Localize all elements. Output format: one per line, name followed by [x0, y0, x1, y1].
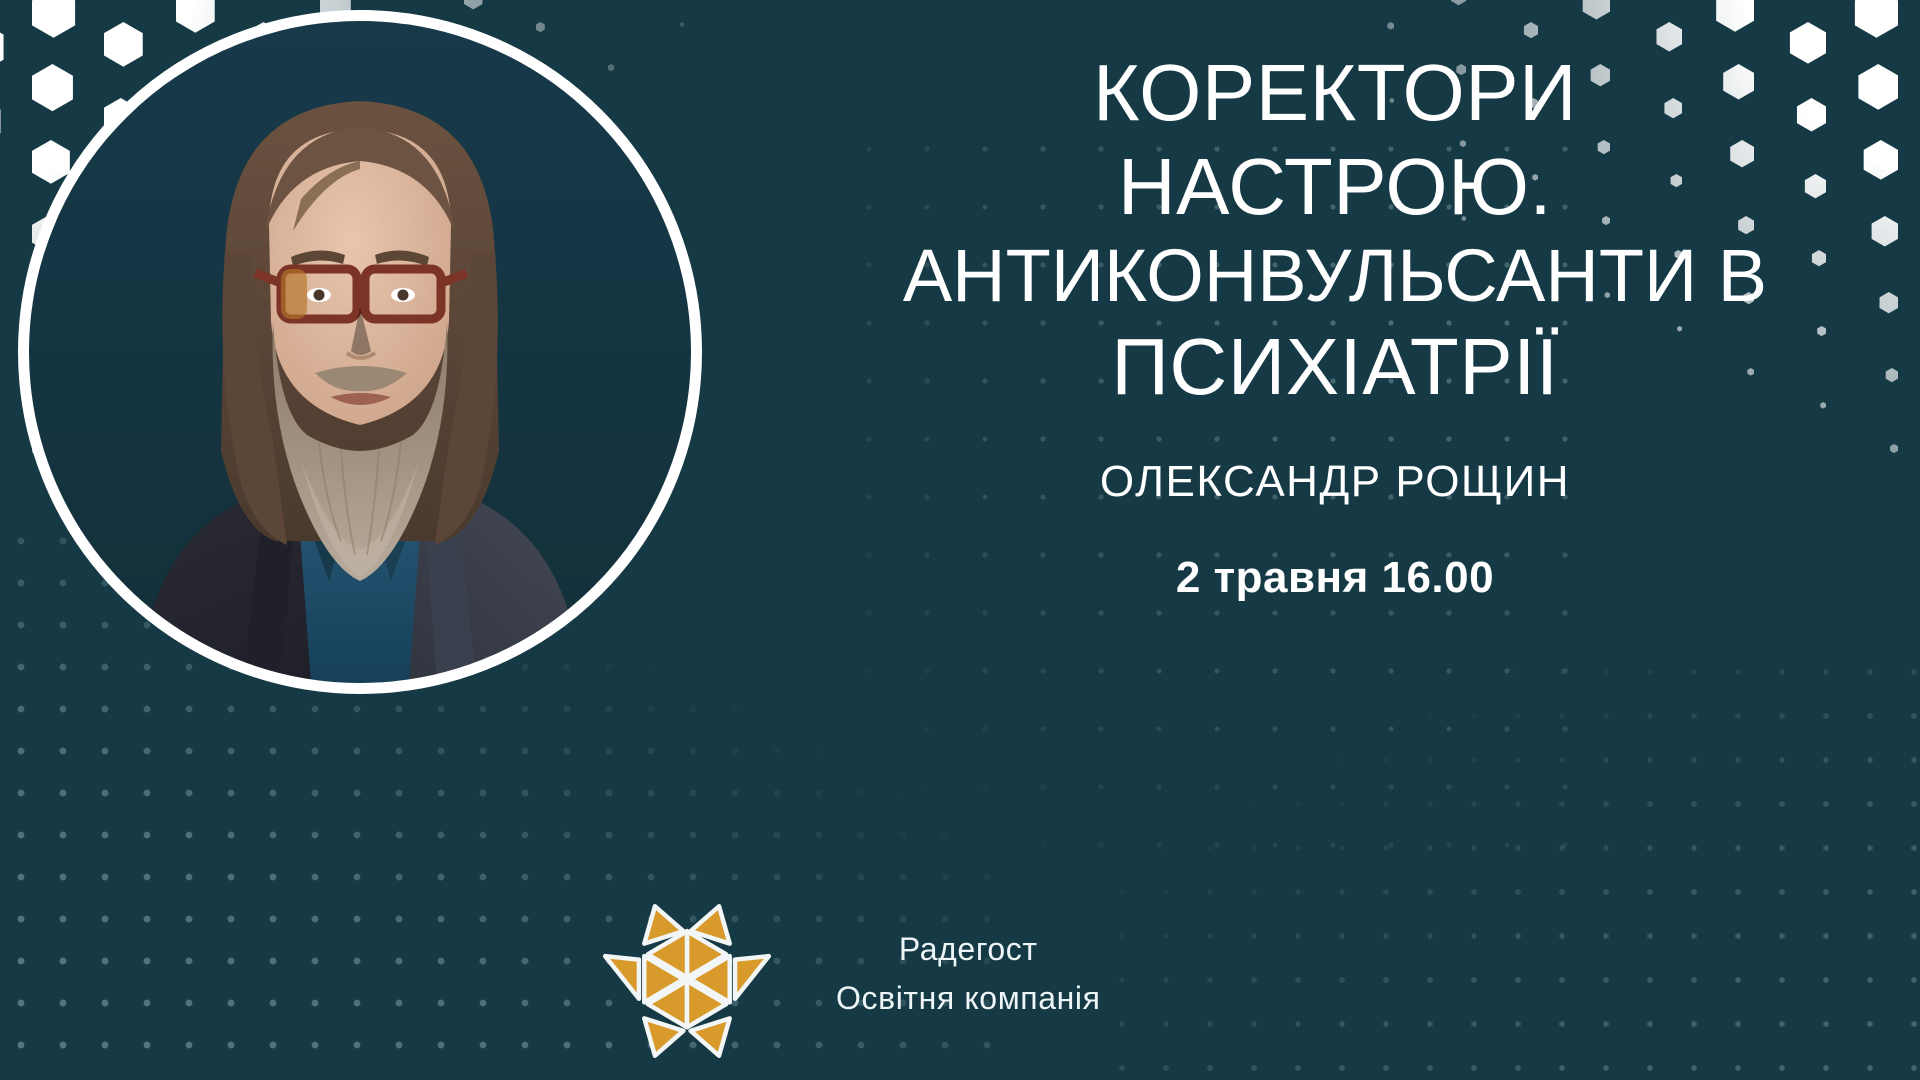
title-line-4: ПСИХІАТРІЇ: [830, 320, 1840, 414]
dot-grid-pattern-bottom-right: [1100, 650, 1920, 1080]
brand-block: Радегост Освітня компанія: [598, 892, 1101, 1070]
poster-content: КОРЕКТОРИ НАСТРОЮ. АНТИКОНВУЛЬСАНТИ В ПС…: [830, 46, 1840, 603]
eight-point-star-icon: [598, 892, 776, 1070]
speaker-portrait: [18, 10, 702, 694]
portrait-ring: [18, 10, 702, 694]
brand-text: Радегост Освітня компанія: [836, 925, 1101, 1036]
event-poster: КОРЕКТОРИ НАСТРОЮ. АНТИКОНВУЛЬСАНТИ В ПС…: [0, 0, 1920, 1080]
title-line-3: АНТИКОНВУЛЬСАНТИ В: [830, 233, 1840, 320]
speaker-name: ОЛЕКСАНДР РОЩИН: [830, 457, 1840, 507]
title-line-1: КОРЕКТОРИ: [830, 46, 1840, 140]
page-title: КОРЕКТОРИ НАСТРОЮ. АНТИКОНВУЛЬСАНТИ В ПС…: [830, 46, 1840, 413]
brand-name: Радегост: [836, 925, 1101, 974]
title-line-2: НАСТРОЮ.: [830, 140, 1840, 234]
event-datetime: 2 травня 16.00: [830, 553, 1840, 603]
brand-tagline: Освітня компанія: [836, 974, 1101, 1023]
